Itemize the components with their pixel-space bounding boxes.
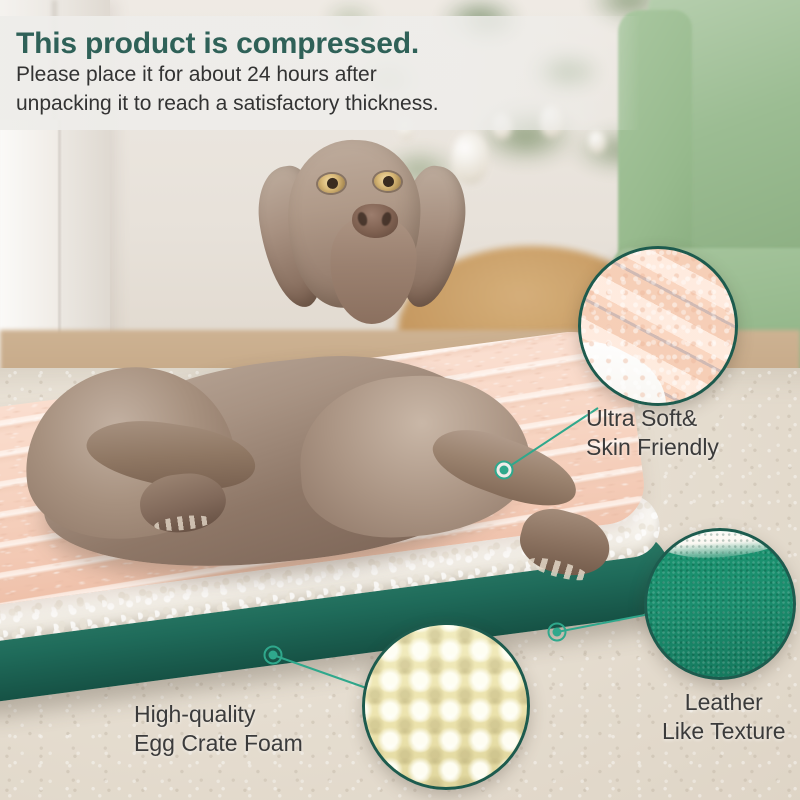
callout-swatch-ultra-soft — [578, 246, 738, 406]
product-feature-image: Ultra Soft& Skin Friendly High-quality E… — [0, 0, 800, 800]
callout-label-line2: Like Texture — [662, 717, 786, 746]
callout-swatch-leather-texture — [644, 528, 796, 680]
callout-label-line2: Skin Friendly — [586, 433, 719, 462]
callout-label-line1: Leather — [662, 688, 786, 717]
banner-line-1: Please place it for about 24 hours after — [16, 61, 640, 89]
callout-label-line1: Ultra Soft& — [586, 404, 719, 433]
callout-label-leather-texture: Leather Like Texture — [662, 688, 786, 745]
swatch-sherpa-corner — [578, 326, 683, 406]
dog-front-paw — [514, 501, 617, 584]
header-banner: This product is compressed. Please place… — [0, 16, 640, 130]
callout-label-ultra-soft: Ultra Soft& Skin Friendly — [586, 404, 719, 461]
swatch-fur-edge — [644, 528, 796, 562]
banner-line-2: unpacking it to reach a satisfactory thi… — [16, 90, 640, 118]
callout-label-egg-crate-foam: High-quality Egg Crate Foam — [134, 700, 303, 757]
callout-swatch-egg-crate-foam — [362, 622, 530, 790]
banner-title: This product is compressed. — [16, 26, 640, 61]
callout-label-line2: Egg Crate Foam — [134, 729, 303, 758]
callout-label-line1: High-quality — [134, 700, 303, 729]
